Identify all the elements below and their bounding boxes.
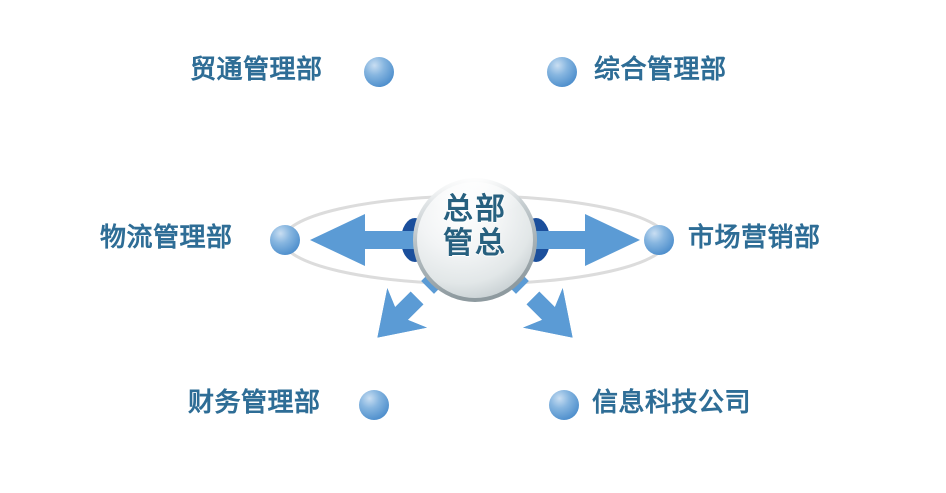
- node-dot-top-right[interactable]: [547, 57, 577, 87]
- node-label-top-right[interactable]: 综合管理部: [594, 56, 727, 82]
- diagram-canvas: 总部 管总 贸通管理部 综合管理部 物流管理部 市场营销部 财务管理部 信息科技…: [0, 0, 946, 493]
- node-dot-middle-right[interactable]: [644, 225, 674, 255]
- arrow-to-middle-right: [527, 214, 640, 266]
- node-dot-middle-left[interactable]: [270, 225, 300, 255]
- node-label-middle-left[interactable]: 物流管理部: [100, 224, 233, 250]
- node-dot-bottom-right[interactable]: [549, 390, 579, 420]
- node-label-bottom-right[interactable]: 信息科技公司: [592, 389, 751, 415]
- node-dot-bottom-left[interactable]: [359, 390, 389, 420]
- node-label-top-left[interactable]: 贸通管理部: [190, 56, 323, 82]
- node-label-bottom-left[interactable]: 财务管理部: [188, 389, 321, 415]
- node-dot-top-left[interactable]: [364, 57, 394, 87]
- center-node-sphere[interactable]: [413, 176, 537, 302]
- node-label-middle-right[interactable]: 市场营销部: [688, 224, 821, 250]
